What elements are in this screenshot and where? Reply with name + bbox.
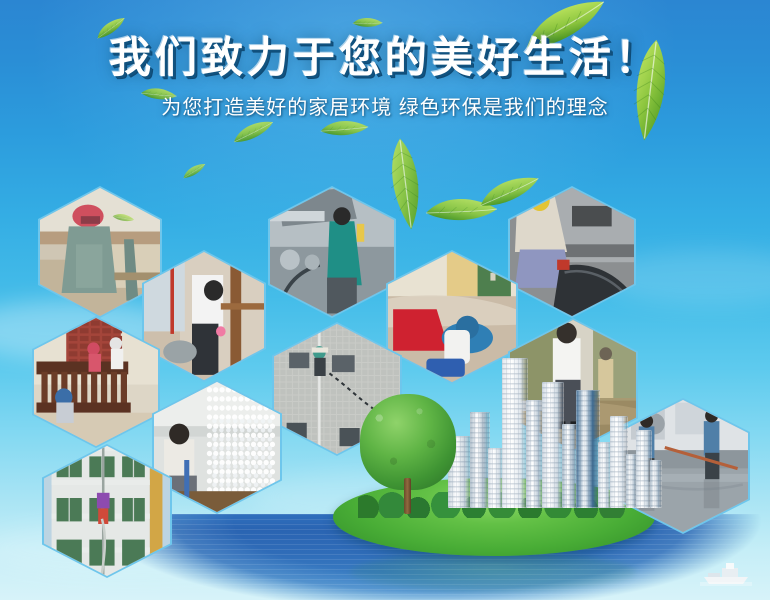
hex-kitchen-hood-cleaning-photo <box>510 188 634 316</box>
headline-container: 我们致力于您的美好生活！ <box>0 32 770 84</box>
leaf-right-sprig-icon <box>422 189 500 238</box>
island-reflection <box>350 552 636 592</box>
city-skyline <box>430 336 670 508</box>
leaf-mid-center-icon <box>230 118 278 152</box>
page-subtitle: 为您打造美好的家居环境 绿色环保是我们的理念 <box>0 94 770 122</box>
skyscraper <box>576 390 600 508</box>
tree-crown <box>360 394 456 490</box>
skyscraper <box>470 412 490 508</box>
skyscraper <box>502 358 528 508</box>
skyscraper <box>542 382 564 508</box>
page-title: 我们致力于您的美好生活！ <box>109 32 661 84</box>
promo-banner: 我们致力于您的美好生活！ 为您打造美好的家居环境 绿色环保是我们的理念 <box>0 0 770 600</box>
tree-trunk <box>404 478 411 514</box>
hex-kitchen-hood-cleaning[interactable] <box>508 186 636 318</box>
hex-duct-cleaning-photo <box>270 188 394 316</box>
hex-handrail-polish-photo <box>34 318 158 446</box>
hex-handrail-polish[interactable] <box>32 316 160 448</box>
leaf-lower-left-dot-icon <box>180 160 210 185</box>
hex-duct-cleaning[interactable] <box>268 186 396 318</box>
hex-chandelier-cleaning-photo <box>154 382 280 512</box>
island-tree <box>360 394 456 514</box>
boat-icon <box>700 560 752 586</box>
skyscraper <box>650 460 662 508</box>
hex-stair-mopping-photo <box>144 252 264 380</box>
